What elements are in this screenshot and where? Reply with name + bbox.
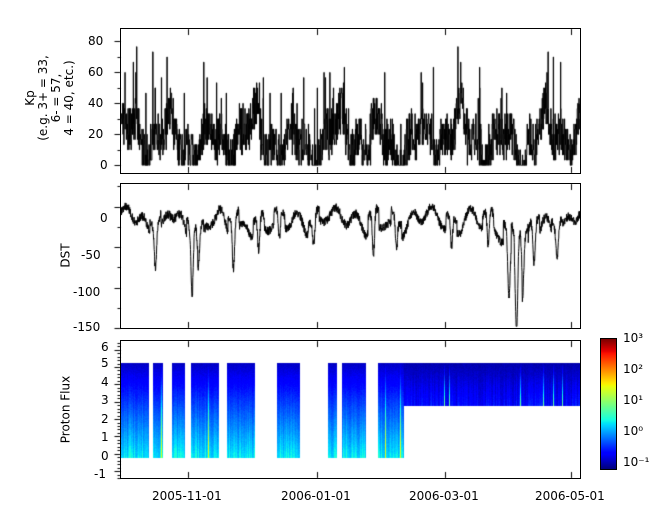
proton-flux-axis-label: Proton Flux	[60, 355, 73, 465]
dst-axis-label: DST	[60, 226, 73, 286]
kp-ytick-40: 40	[88, 96, 103, 110]
kp-ytick-0: 0	[100, 158, 108, 172]
kp-series-plot	[121, 29, 580, 173]
colorbar-tick-1e2: 10²	[623, 362, 643, 376]
flux-ytick-neg1: -1	[94, 467, 106, 481]
flux-ytick-4: 4	[101, 375, 109, 389]
proton-flux-spectrogram	[121, 341, 580, 478]
xtick-2006-03-01: 2006-03-01	[409, 489, 479, 503]
colorbar-tick-1e0: 10⁰	[623, 424, 643, 438]
figure-root: Kp (e.g. 3+ = 33, 6- = 57, 4 = 40, etc.)…	[0, 0, 665, 523]
xtick-2006-01-01: 2006-01-01	[281, 489, 351, 503]
dst-series-plot	[121, 184, 580, 328]
kp-ytick-80: 80	[88, 34, 103, 48]
dst-ytick-neg150: -150	[73, 320, 100, 334]
xtick-2006-05-01: 2006-05-01	[535, 489, 605, 503]
kp-axis-label: Kp (e.g. 3+ = 33, 6- = 57, 4 = 40, etc.)	[24, 18, 76, 178]
dst-ytick-neg100: -100	[73, 285, 100, 299]
flux-ytick-6: 6	[101, 340, 109, 354]
dst-ytick-0: 0	[100, 211, 108, 225]
xtick-2005-11-01: 2005-11-01	[152, 489, 222, 503]
colorbar-tick-1eneg1: 10⁻¹	[623, 455, 649, 469]
flux-ytick-3: 3	[101, 393, 109, 407]
colorbar-tick-1e3: 10³	[623, 331, 643, 345]
dst-ytick-neg50: -50	[81, 248, 101, 262]
flux-ytick-2: 2	[101, 412, 109, 426]
colorbar	[600, 338, 617, 470]
kp-ytick-60: 60	[88, 65, 103, 79]
flux-ytick-5: 5	[101, 356, 109, 370]
colorbar-tick-1e1: 10¹	[623, 393, 643, 407]
flux-ytick-0: 0	[101, 449, 109, 463]
kp-ytick-20: 20	[88, 127, 103, 141]
flux-ytick-1: 1	[101, 430, 109, 444]
